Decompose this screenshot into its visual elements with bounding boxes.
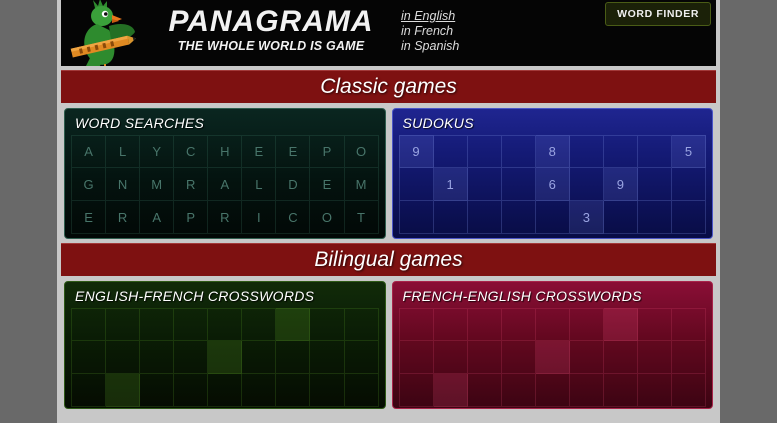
grid-cell[interactable]: L (106, 135, 140, 168)
grid-cell[interactable] (468, 341, 502, 374)
grid-cell[interactable] (638, 168, 672, 201)
site-header: PANAGRAMA THE WHOLE WORLD IS GAME in Eng… (61, 0, 716, 66)
word-search-grid-wrap: ALYCHEEPOGNMRALDEMERAPRICOT (71, 135, 379, 235)
grid-cell[interactable] (570, 168, 604, 201)
grid-cell[interactable] (242, 374, 276, 407)
grid-cell[interactable]: R (106, 201, 140, 234)
grid-row (71, 341, 379, 374)
grid-cell[interactable]: A (71, 135, 106, 168)
panel-english-french-crosswords[interactable]: ENGLISH-FRENCH CROSSWORDS (64, 281, 386, 409)
grid-cell[interactable]: H (208, 135, 242, 168)
section-banner-bilingual-games: Bilingual games (61, 243, 716, 276)
language-link-french[interactable]: in French (401, 24, 459, 39)
grid-row: ALYCHEEPO (71, 135, 379, 168)
grid-cell[interactable] (468, 374, 502, 407)
grid-cell[interactable] (468, 308, 502, 341)
grid-cell[interactable]: P (310, 135, 344, 168)
grid-cell[interactable] (502, 374, 536, 407)
grid-cell[interactable]: T (345, 201, 379, 234)
grid-cell[interactable] (310, 341, 344, 374)
word-finder-button[interactable]: WORD FINDER (605, 2, 711, 26)
grid-cell[interactable]: P (174, 201, 208, 234)
grid-cell[interactable] (399, 341, 434, 374)
grid-cell[interactable] (638, 135, 672, 168)
sudoku-grid[interactable]: 9851693 (399, 135, 707, 234)
grid-cell[interactable]: E (276, 135, 310, 168)
grid-cell[interactable] (71, 341, 106, 374)
grid-cell[interactable] (208, 374, 242, 407)
panel-title-sudokus: SUDOKUS (393, 109, 713, 135)
grid-cell[interactable]: E (310, 168, 344, 201)
grid-cell[interactable] (604, 341, 638, 374)
grid-cell[interactable] (242, 341, 276, 374)
brand-name: PANAGRAMA (141, 6, 401, 38)
crossword-en-grid-wrap (71, 308, 379, 408)
section-title: Bilingual games (314, 248, 462, 272)
grid-cell[interactable]: Y (140, 135, 174, 168)
grid-cell[interactable]: E (71, 201, 106, 234)
sudoku-grid-wrap: 9851693 (399, 135, 707, 235)
grid-cell[interactable] (536, 308, 570, 341)
grid-cell[interactable] (276, 374, 310, 407)
grid-cell[interactable]: 1 (434, 168, 468, 201)
grid-cell[interactable]: A (208, 168, 242, 201)
grid-cell[interactable] (434, 201, 468, 234)
crossword-english-french-grid[interactable] (71, 308, 379, 407)
grid-cell[interactable] (638, 308, 672, 341)
grid-cell[interactable] (106, 374, 140, 407)
grid-cell[interactable]: L (242, 168, 276, 201)
grid-row (399, 374, 707, 407)
grid-cell[interactable] (434, 308, 468, 341)
grid-cell[interactable] (345, 341, 379, 374)
grid-cell[interactable] (106, 308, 140, 341)
grid-cell[interactable]: I (242, 201, 276, 234)
panel-french-english-crosswords[interactable]: FRENCH-ENGLISH CROSSWORDS (392, 281, 714, 409)
grid-cell[interactable]: M (345, 168, 379, 201)
grid-cell[interactable] (399, 374, 434, 407)
grid-cell[interactable] (71, 374, 106, 407)
grid-cell[interactable]: 5 (672, 135, 706, 168)
grid-cell[interactable] (570, 135, 604, 168)
grid-cell[interactable] (570, 374, 604, 407)
grid-cell[interactable] (672, 341, 706, 374)
grid-cell[interactable]: R (208, 201, 242, 234)
grid-cell[interactable] (140, 341, 174, 374)
grid-cell[interactable] (345, 374, 379, 407)
grid-cell[interactable] (536, 374, 570, 407)
grid-cell[interactable]: 6 (536, 168, 570, 201)
grid-cell[interactable]: G (71, 168, 106, 201)
grid-row (71, 308, 379, 341)
grid-cell[interactable] (174, 341, 208, 374)
grid-cell[interactable] (468, 135, 502, 168)
grid-row (399, 341, 707, 374)
grid-cell[interactable]: O (310, 201, 344, 234)
panel-title-english-french-crosswords: ENGLISH-FRENCH CROSSWORDS (65, 282, 385, 308)
grid-cell[interactable] (672, 308, 706, 341)
grid-cell[interactable]: O (345, 135, 379, 168)
grid-cell[interactable] (468, 201, 502, 234)
language-link-english[interactable]: in English (401, 9, 459, 24)
grid-cell[interactable] (502, 341, 536, 374)
grid-cell[interactable]: E (242, 135, 276, 168)
grid-cell[interactable] (638, 374, 672, 407)
grid-cell[interactable]: 9 (604, 168, 638, 201)
grid-cell[interactable] (174, 374, 208, 407)
grid-cell[interactable] (276, 341, 310, 374)
grid-cell[interactable] (604, 308, 638, 341)
grid-cell[interactable]: N (106, 168, 140, 201)
panel-title-french-english-crosswords: FRENCH-ENGLISH CROSSWORDS (393, 282, 713, 308)
grid-cell[interactable] (434, 341, 468, 374)
grid-cell[interactable] (604, 201, 638, 234)
grid-cell[interactable] (208, 308, 242, 341)
grid-cell[interactable] (399, 168, 434, 201)
grid-cell[interactable]: 8 (536, 135, 570, 168)
panel-word-searches[interactable]: WORD SEARCHES ALYCHEEPOGNMRALDEMERAPRICO… (64, 108, 386, 239)
grid-cell[interactable] (242, 308, 276, 341)
parrot-with-pencil-icon (65, 0, 143, 66)
language-link-spanish[interactable]: in Spanish (401, 39, 459, 54)
brand-tagline: THE WHOLE WORLD IS GAME (141, 38, 401, 54)
grid-row: 169 (399, 168, 707, 201)
grid-cell[interactable]: 9 (399, 135, 434, 168)
panel-sudokus[interactable]: SUDOKUS 9851693 (392, 108, 714, 239)
crossword-french-english-grid[interactable] (399, 308, 707, 407)
grid-cell[interactable] (140, 374, 174, 407)
section-title: Classic games (320, 75, 457, 99)
grid-cell[interactable]: C (174, 135, 208, 168)
grid-cell[interactable] (140, 308, 174, 341)
grid-row: GNMRALDEM (71, 168, 379, 201)
grid-cell[interactable]: A (140, 201, 174, 234)
grid-cell[interactable] (672, 168, 706, 201)
grid-cell[interactable] (502, 135, 536, 168)
grid-cell[interactable] (468, 168, 502, 201)
grid-cell[interactable] (434, 374, 468, 407)
grid-cell[interactable] (106, 341, 140, 374)
grid-cell[interactable]: 3 (570, 201, 604, 234)
grid-cell[interactable] (399, 308, 434, 341)
grid-cell[interactable] (502, 168, 536, 201)
grid-cell[interactable] (570, 341, 604, 374)
grid-cell[interactable]: D (276, 168, 310, 201)
crossword-fr-grid-wrap (399, 308, 707, 408)
grid-cell[interactable]: C (276, 201, 310, 234)
grid-cell[interactable] (345, 308, 379, 341)
grid-cell[interactable]: R (174, 168, 208, 201)
grid-row: ERAPRICOT (71, 201, 379, 234)
grid-cell[interactable] (434, 135, 468, 168)
panel-title-word-searches: WORD SEARCHES (65, 109, 385, 135)
grid-cell[interactable] (570, 308, 604, 341)
grid-cell[interactable] (536, 341, 570, 374)
grid-cell[interactable] (310, 308, 344, 341)
grid-cell[interactable] (536, 201, 570, 234)
grid-cell[interactable] (399, 201, 434, 234)
grid-cell[interactable] (174, 308, 208, 341)
word-search-grid[interactable]: ALYCHEEPOGNMRALDEMERAPRICOT (71, 135, 379, 234)
bilingual-games-row: ENGLISH-FRENCH CROSSWORDS FRENCH-ENGLISH… (61, 281, 716, 409)
language-links: in English in French in Spanish (401, 9, 459, 54)
brand-block: PANAGRAMA THE WHOLE WORLD IS GAME (141, 6, 401, 54)
grid-cell[interactable] (310, 374, 344, 407)
grid-cell[interactable] (276, 308, 310, 341)
grid-row: 3 (399, 201, 707, 234)
grid-cell[interactable] (638, 341, 672, 374)
grid-cell[interactable] (638, 201, 672, 234)
grid-cell[interactable]: M (140, 168, 174, 201)
grid-cell[interactable] (604, 135, 638, 168)
grid-cell[interactable] (502, 308, 536, 341)
grid-row: 985 (399, 135, 707, 168)
grid-cell[interactable] (672, 374, 706, 407)
grid-cell[interactable] (604, 374, 638, 407)
classic-games-row: WORD SEARCHES ALYCHEEPOGNMRALDEMERAPRICO… (61, 108, 716, 239)
section-banner-classic-games: Classic games (61, 70, 716, 103)
grid-row (399, 308, 707, 341)
grid-row (71, 374, 379, 407)
grid-cell[interactable] (71, 308, 106, 341)
grid-cell[interactable] (672, 201, 706, 234)
grid-cell[interactable] (208, 341, 242, 374)
page-container: PANAGRAMA THE WHOLE WORLD IS GAME in Eng… (57, 0, 720, 423)
grid-cell[interactable] (502, 201, 536, 234)
